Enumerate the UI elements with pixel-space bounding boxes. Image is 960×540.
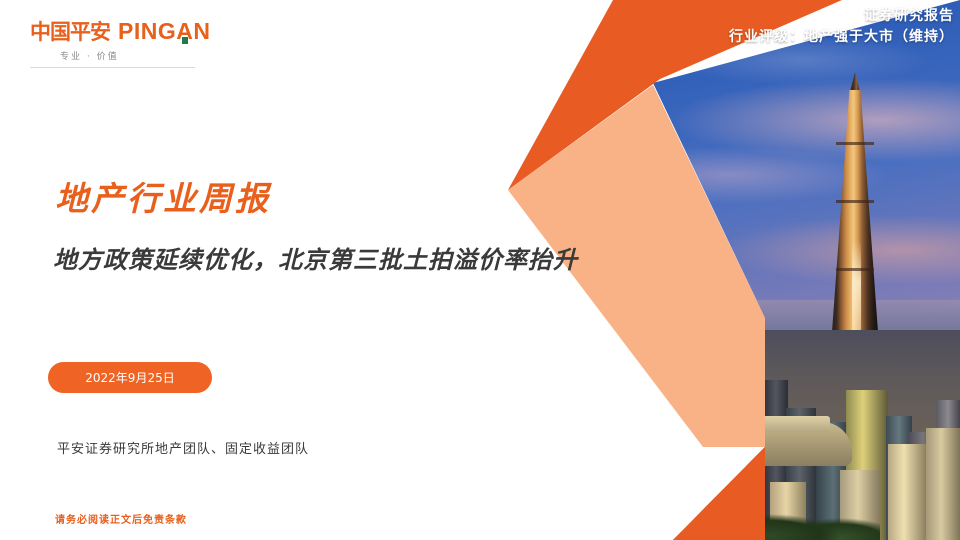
building [888,444,926,540]
publish-date-badge: 2022年9月25日 [48,362,212,393]
logo-green-accent [182,37,188,44]
ping-an-tower [832,72,878,332]
pingan-logo: 中国平安 PINGAN 专业 · 价值 [30,16,210,68]
presentation-cover-slide: 中国平安 PINGAN 专业 · 价值 证券研究报告 行业评级：地产强于大市（维… [0,0,960,540]
logo-chinese-text: 中国平安 [30,16,110,46]
research-team-label: 平安证券研究所地产团队、固定收益团队 [57,438,309,457]
tower-band [836,268,874,271]
industry-rating-label: 行业评级：地产强于大市（维持） [729,27,954,48]
logo-english-label: PINGAN [118,18,210,44]
tower-band [836,142,874,145]
building [648,422,682,540]
page-title: 地产行业周报 [55,172,271,220]
report-header: 证券研究报告 行业评级：地产强于大市（维持） [729,6,954,48]
page-subtitle: 地方政策延续优化，北京第三批土拍溢价率抬升 [53,240,578,275]
building [926,428,960,540]
tower-body [832,90,878,332]
disclaimer-note: 请务必阅读正文后免责条款 [55,511,187,526]
report-type-label: 证券研究报告 [729,6,954,27]
logo-divider [30,67,195,68]
building [640,478,672,540]
logo-tagline: 专业 · 价值 [60,49,210,62]
tower-band [836,200,874,203]
logo-english-text: PINGAN [118,18,210,45]
